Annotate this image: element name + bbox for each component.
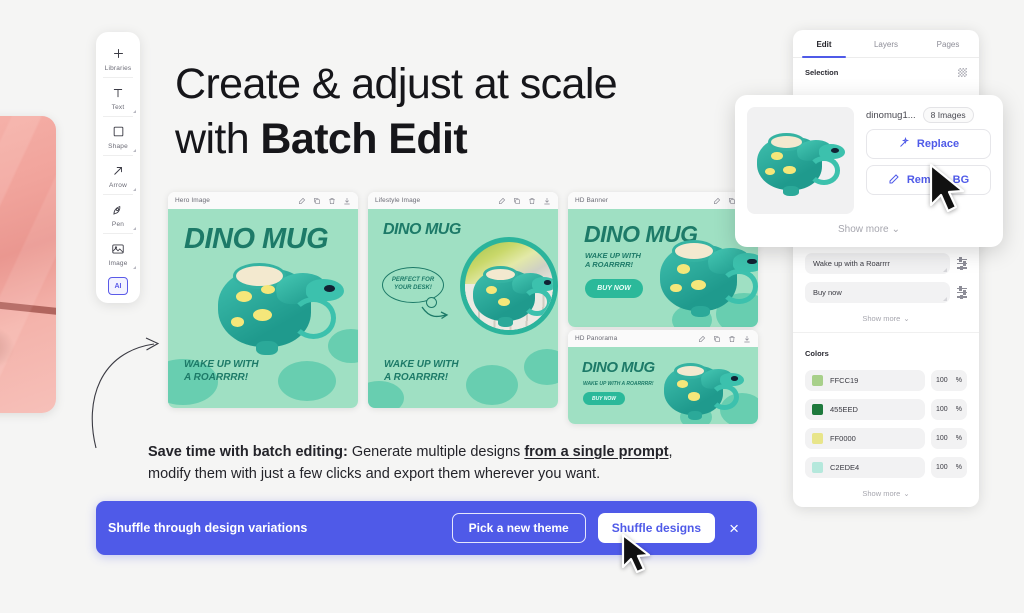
mug-handle — [808, 156, 840, 185]
tab-layers[interactable]: Layers — [855, 30, 917, 57]
opacity-unit: % — [956, 377, 962, 384]
colors-show-more-button[interactable]: Show more⌄ — [793, 482, 979, 507]
mug-foot — [691, 306, 710, 318]
edit-icon[interactable] — [298, 197, 306, 205]
tool-image[interactable]: Image — [96, 233, 140, 272]
tool-label: Arrow — [109, 182, 127, 189]
close-icon[interactable]: × — [727, 520, 741, 537]
mug-eye — [544, 280, 552, 285]
description-tail: , — [669, 444, 673, 460]
tool-rail: Libraries Text Shape Arrow — [96, 32, 140, 303]
lifestyle-photo — [460, 237, 558, 335]
design-card-hd-banner[interactable]: HD Banner DINO MUG WAKE UP WITH A ROARRR… — [568, 192, 758, 327]
show-more-label: Show more — [838, 224, 889, 235]
mug-foot — [688, 411, 702, 420]
shape-icon — [112, 123, 125, 140]
text-field-row: Wake up with a Roarrrr — [793, 249, 979, 278]
design-card-actions — [498, 197, 551, 205]
curved-arrow-icon — [88, 330, 168, 450]
download-icon[interactable] — [343, 197, 351, 205]
design-card-actions — [698, 335, 751, 343]
mug-spot — [236, 291, 252, 302]
design-card-hero[interactable]: Hero Image DINO MUG — [168, 192, 358, 408]
tool-text[interactable]: Text — [96, 77, 140, 116]
color-opacity[interactable]: 100% — [931, 370, 967, 391]
mug-handle — [720, 269, 757, 304]
design-card-lifestyle[interactable]: Lifestyle Image DINO MUG PERFECT FOR YOU… — [368, 192, 558, 408]
color-row: C2EDE4 100% — [793, 453, 979, 482]
image-name: dinomug1... — [866, 110, 916, 121]
design-card-header: Hero Image — [168, 192, 358, 209]
opacity-value: 100 — [936, 377, 948, 384]
headline-line-2: with Batch Edit — [175, 112, 775, 167]
pencil-icon — [888, 173, 900, 188]
mug-eye — [831, 148, 839, 153]
tool-label: Image — [108, 260, 127, 267]
edit-icon[interactable] — [713, 197, 721, 205]
image-icon — [111, 240, 125, 257]
expand-corner-icon — [133, 149, 136, 152]
text-show-more-button[interactable]: Show more⌄ — [793, 307, 979, 332]
mug-eye — [747, 259, 756, 265]
mug-eye — [731, 376, 738, 380]
color-hex: C2EDE4 — [830, 463, 859, 472]
blob-shape — [524, 349, 558, 385]
dino-mug-illustration — [664, 359, 744, 421]
colors-header: Colors — [793, 341, 979, 366]
mug-foot — [498, 317, 513, 326]
expand-corner-icon — [133, 110, 136, 113]
tool-label: Text — [112, 104, 125, 111]
design-preview: DINO MUG WAKE UP WITH A ROARRRR! BUY NOW — [568, 347, 758, 424]
mug-spot — [670, 284, 681, 292]
colors-label: Colors — [805, 349, 829, 358]
remove-bg-label: Remove BG — [907, 174, 969, 186]
dino-mug-illustration — [473, 262, 557, 328]
replace-label: Replace — [917, 138, 959, 150]
popup-body: dinomug1... 8 Images Replace Remove BG — [747, 107, 991, 214]
image-popup: dinomug1... 8 Images Replace Remove BG — [735, 95, 1003, 247]
color-swatch-box[interactable]: C2EDE4 — [805, 457, 925, 478]
tab-pages[interactable]: Pages — [917, 30, 979, 57]
mug-eye — [324, 285, 335, 292]
show-more-label: Show more — [862, 489, 900, 498]
design-headline: DINO MUG — [184, 223, 328, 256]
opacity-unit: % — [956, 464, 962, 471]
mug-spot — [253, 309, 272, 321]
opacity-unit: % — [956, 406, 962, 413]
headline-line-1: Create & adjust at scale — [175, 57, 775, 112]
tool-label: Shape — [108, 143, 128, 150]
design-card-title: Lifestyle Image — [375, 197, 420, 204]
headline-plain: with — [175, 115, 260, 163]
tool-label: Libraries — [105, 65, 132, 72]
mug-handle — [522, 288, 552, 316]
panel-tabs: Edit Layers Pages — [793, 30, 979, 58]
opacity-unit: % — [956, 435, 962, 442]
color-opacity[interactable]: 100% — [931, 399, 967, 420]
mug-spot — [771, 152, 782, 160]
popup-show-more-button[interactable]: Show more⌄ — [747, 214, 991, 235]
tool-pen[interactable]: Pen — [96, 194, 140, 233]
tool-libraries[interactable]: Libraries — [96, 38, 140, 77]
color-swatch[interactable] — [812, 462, 823, 473]
mug-spot — [765, 168, 775, 175]
dino-mug-illustration — [218, 257, 344, 357]
description-mid: Generate multiple designs — [348, 444, 525, 460]
shuffle-banner: Shuffle through design variations Pick a… — [96, 501, 757, 555]
tool-label: Pen — [112, 221, 124, 228]
text-field-row: Buy now — [793, 278, 979, 307]
replace-button[interactable]: Replace — [866, 129, 991, 159]
plus-icon — [111, 45, 126, 62]
color-swatch[interactable] — [812, 404, 823, 415]
color-row: FFCC19 100% — [793, 366, 979, 395]
description-text: Save time with batch editing: Generate m… — [148, 441, 763, 485]
popup-header: dinomug1... 8 Images — [866, 107, 991, 123]
text-field-3[interactable]: Buy now — [805, 282, 950, 303]
color-opacity[interactable]: 100% — [931, 457, 967, 478]
popup-controls: dinomug1... 8 Images Replace Remove BG — [866, 107, 991, 214]
dino-mug-illustration — [757, 129, 845, 197]
trash-icon[interactable] — [328, 197, 336, 205]
design-tagline: WAKE UP WITH A ROARRRR! — [384, 359, 459, 384]
design-card-actions — [298, 197, 351, 205]
mug-spot — [783, 166, 795, 174]
mug-spot — [261, 285, 275, 294]
buy-now-button[interactable]: BUY NOW — [583, 392, 625, 405]
pink-image-card[interactable] — [0, 116, 56, 413]
design-headline: DINO MUG — [582, 359, 655, 376]
copy-icon[interactable] — [513, 197, 521, 205]
app-canvas: Libraries Text Shape Arrow — [0, 0, 1024, 613]
color-hex: FF0000 — [830, 434, 856, 443]
download-icon[interactable] — [743, 335, 751, 343]
design-preview: DINO MUG WAKE UP WITH A ROARRRR! — [168, 209, 358, 408]
design-preview: DINO MUG WAKE UP WITH A ROARRRR! BUY NOW — [568, 209, 758, 327]
mug-spot — [677, 380, 688, 387]
download-icon[interactable] — [543, 197, 551, 205]
color-opacity[interactable]: 100% — [931, 428, 967, 449]
edit-icon[interactable] — [498, 197, 506, 205]
design-preview: DINO MUG PERFECT FOR YOUR DESK! — [368, 209, 558, 408]
selection-label: Selection — [805, 68, 838, 77]
mug-foot — [256, 341, 279, 355]
image-thumbnail[interactable] — [747, 107, 854, 214]
expand-corner-icon — [133, 188, 136, 191]
blob-shape — [466, 365, 518, 405]
opacity-value: 100 — [936, 406, 948, 413]
opacity-value: 100 — [936, 435, 948, 442]
speech-bubble: PERFECT FOR YOUR DESK! — [382, 267, 444, 303]
show-more-label: Show more — [862, 314, 900, 323]
mug-spot — [688, 392, 700, 400]
mug-handle — [710, 384, 739, 410]
banner-message: Shuffle through design variations — [108, 521, 440, 535]
expand-corner-icon — [133, 227, 136, 230]
mug-spot — [498, 298, 510, 306]
selection-section-header: Selection — [793, 58, 979, 85]
design-headline: DINO MUG — [383, 221, 461, 239]
headline-bold: Batch Edit — [260, 115, 467, 163]
color-hex: 455EED — [830, 405, 858, 414]
blob-shape — [368, 381, 404, 408]
ai-button[interactable]: AI — [108, 277, 128, 295]
shuffle-designs-button[interactable]: Shuffle designs — [598, 513, 715, 543]
copy-icon[interactable] — [313, 197, 321, 205]
color-swatch[interactable] — [812, 433, 823, 444]
design-card-hd-panorama[interactable]: HD Panorama DINO MUG WAKE UP WITH A ROAR… — [568, 330, 758, 424]
page-title: Create & adjust at scale with Batch Edit — [175, 57, 775, 167]
stem-shape — [0, 295, 56, 316]
chevron-down-icon: ⌄ — [903, 314, 909, 323]
edit-icon[interactable] — [698, 335, 706, 343]
dino-mug-illustration — [660, 235, 758, 319]
color-swatch-box[interactable]: FF0000 — [805, 428, 925, 449]
design-card-header: Lifestyle Image — [368, 192, 558, 209]
design-tagline: WAKE UP WITH A ROARRRR! — [585, 251, 641, 270]
magic-wand-icon — [898, 137, 910, 152]
color-hex: FFCC19 — [830, 376, 858, 385]
chevron-down-icon: ⌄ — [892, 224, 900, 235]
tab-edit[interactable]: Edit — [793, 30, 855, 57]
image-count-badge: 8 Images — [923, 107, 974, 123]
arrow-icon — [111, 162, 125, 179]
opacity-value: 100 — [936, 464, 948, 471]
color-row: 455EED 100% — [793, 395, 979, 424]
design-tagline: WAKE UP WITH A ROARRRR! — [184, 359, 259, 384]
sliders-icon[interactable] — [957, 288, 967, 298]
tool-arrow[interactable]: Arrow — [96, 155, 140, 194]
color-row: FF0000 100% — [793, 424, 979, 453]
sliders-icon[interactable] — [957, 259, 967, 269]
color-swatch-box[interactable]: 455EED — [805, 399, 925, 420]
design-card-title: Hero Image — [175, 197, 210, 204]
trash-icon[interactable] — [728, 335, 736, 343]
description-line-2: modify them with just a few clicks and e… — [148, 463, 763, 485]
trash-icon[interactable] — [528, 197, 536, 205]
design-card-title: HD Banner — [575, 197, 608, 204]
mug-spot — [677, 264, 691, 274]
grid-icon[interactable] — [958, 68, 967, 77]
design-card-header: HD Banner — [568, 192, 758, 209]
text-icon — [111, 84, 125, 101]
text-field-2[interactable]: Wake up with a Roarrrr — [805, 253, 950, 274]
buy-now-button[interactable]: BUY NOW — [585, 279, 643, 298]
bubble-arrow-icon — [420, 305, 450, 323]
color-swatch-box[interactable]: FFCC19 — [805, 370, 925, 391]
colors-section: Colors FFCC19 100% 455EED 100% FF0 — [793, 333, 979, 507]
color-swatch[interactable] — [812, 375, 823, 386]
chevron-down-icon: ⌄ — [903, 489, 909, 498]
remove-bg-button[interactable]: Remove BG — [866, 165, 991, 195]
description-lead: Save time with batch editing: — [148, 444, 348, 460]
description-link[interactable]: from a single prompt — [524, 444, 668, 460]
copy-icon[interactable] — [713, 335, 721, 343]
design-tagline: WAKE UP WITH A ROARRRR! — [583, 381, 654, 387]
mug-handle — [291, 297, 336, 339]
mug-spot — [486, 286, 497, 294]
design-card-title: HD Panorama — [575, 335, 617, 342]
blob-shape — [278, 361, 336, 401]
pick-new-theme-button[interactable]: Pick a new theme — [452, 513, 586, 543]
mug-foot — [783, 186, 799, 196]
pen-icon — [111, 201, 125, 218]
design-card-header: HD Panorama — [568, 330, 758, 347]
expand-corner-icon — [133, 266, 136, 269]
tool-shape[interactable]: Shape — [96, 116, 140, 155]
